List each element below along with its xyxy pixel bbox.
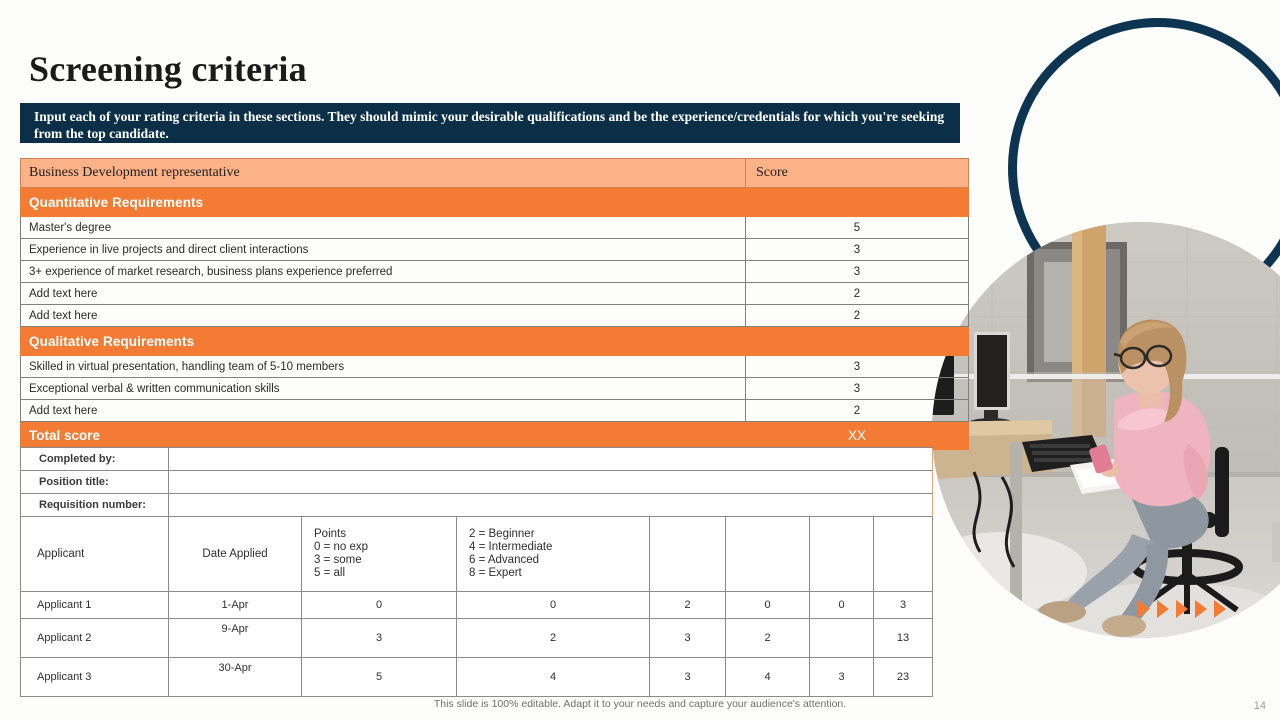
meta-value-input[interactable] [169,471,933,494]
applicant-score-5[interactable] [810,619,874,658]
applicant-name[interactable]: Applicant 3 [21,658,169,697]
col-header-extra-4 [874,517,933,592]
applicant-total[interactable]: 23 [874,658,933,697]
triangle-icon [1214,600,1226,618]
applicant-score-5[interactable]: 3 [810,658,874,697]
section-header-quantitative: Quantitative Requirements [21,188,969,217]
criteria-score[interactable]: 3 [746,261,969,283]
col-header-extra-2 [726,517,810,592]
applicant-name[interactable]: Applicant 2 [21,619,169,658]
applicant-total[interactable]: 13 [874,619,933,658]
triangle-icon [1176,600,1188,618]
section-score-blank [746,327,969,356]
criteria-row[interactable]: Add text here 2 [21,400,969,422]
applicant-total[interactable]: 3 [874,592,933,619]
criteria-label[interactable]: 3+ experience of market research, busine… [21,261,746,283]
criteria-table-body: Business Development representative Scor… [21,159,969,450]
col-header-applicant: Applicant [21,517,169,592]
page-title: Screening criteria [29,48,307,90]
criteria-score[interactable]: 2 [746,400,969,422]
applicant-score-4[interactable]: 0 [726,592,810,619]
applicant-level[interactable]: 0 [457,592,650,619]
applicant-table-body: Completed by: Position title: Requisitio… [21,448,933,697]
applicant-score-3[interactable]: 3 [650,619,726,658]
criteria-label[interactable]: Add text here [21,400,746,422]
criteria-row[interactable]: Master's degree 5 [21,217,969,239]
meta-value-input[interactable] [169,448,933,471]
meta-value-input[interactable] [169,494,933,517]
instruction-banner-text: Input each of your rating criteria in th… [34,108,946,142]
col-header-level-legend: 2 = Beginner 4 = Intermediate 6 = Advanc… [457,517,650,592]
applicant-level[interactable]: 2 [457,619,650,658]
applicant-column-header-row: Applicant Date Applied Points 0 = no exp… [21,517,933,592]
applicant-level[interactable]: 4 [457,658,650,697]
criteria-label[interactable]: Skilled in virtual presentation, handlin… [21,356,746,378]
criteria-row[interactable]: Add text here 2 [21,283,969,305]
criteria-row[interactable]: Skilled in virtual presentation, handlin… [21,356,969,378]
criteria-label[interactable]: Add text here [21,283,746,305]
section-header-qualitative: Qualitative Requirements [21,327,969,356]
criteria-score[interactable]: 2 [746,283,969,305]
screening-criteria-table: Business Development representative Scor… [20,158,969,450]
applicant-row[interactable]: Applicant 1 1-Apr 0 0 2 0 0 3 [21,592,933,619]
criteria-label[interactable]: Exceptional verbal & written communicati… [21,378,746,400]
applicant-scoring-table: Completed by: Position title: Requisitio… [20,447,933,697]
criteria-header-row: Business Development representative Scor… [21,159,969,188]
office-photo-illustration [932,222,1280,638]
triangle-icon [1157,600,1169,618]
criteria-score[interactable]: 5 [746,217,969,239]
criteria-score[interactable]: 3 [746,378,969,400]
col-header-points-legend: Points 0 = no exp 3 = some 5 = all [302,517,457,592]
col-header-extra-3 [810,517,874,592]
arrow-accent-group [1138,600,1238,620]
applicant-score-5[interactable]: 0 [810,592,874,619]
applicant-points[interactable]: 5 [302,658,457,697]
applicant-score-4[interactable]: 2 [726,619,810,658]
applicant-name[interactable]: Applicant 1 [21,592,169,619]
criteria-label[interactable]: Add text here [21,305,746,327]
page-number: 14 [1254,700,1266,712]
meta-label: Requisition number: [21,494,169,517]
applicant-row[interactable]: Applicant 2 9-Apr 3 2 3 2 13 [21,619,933,658]
meta-label: Position title: [21,471,169,494]
meta-label: Completed by: [21,448,169,471]
meta-row-requisition-number: Requisition number: [21,494,933,517]
criteria-row[interactable]: Experience in live projects and direct c… [21,239,969,261]
score-header-cell: Score [746,159,969,188]
editable-footer-note: This slide is 100% editable. Adapt it to… [0,698,1280,710]
instruction-banner: Input each of your rating criteria in th… [20,103,960,143]
section-title: Quantitative Requirements [21,188,746,217]
applicant-date[interactable]: 30-Apr [169,658,302,697]
applicant-score-3[interactable]: 2 [650,592,726,619]
total-score-label: Total score [21,422,746,450]
meta-row-completed-by: Completed by: [21,448,933,471]
criteria-row[interactable]: 3+ experience of market research, busine… [21,261,969,283]
criteria-label[interactable]: Experience in live projects and direct c… [21,239,746,261]
triangle-icon [1195,600,1207,618]
role-header-cell: Business Development representative [21,159,746,188]
applicant-row[interactable]: Applicant 3 30-Apr 5 4 3 4 3 23 [21,658,933,697]
applicant-points[interactable]: 0 [302,592,457,619]
section-score-blank [746,188,969,217]
criteria-score[interactable]: 3 [746,356,969,378]
section-title: Qualitative Requirements [21,327,746,356]
applicant-date[interactable]: 1-Apr [169,592,302,619]
triangle-icon [1138,600,1150,618]
col-header-extra-1 [650,517,726,592]
meta-row-position-title: Position title: [21,471,933,494]
total-score-row: Total score XX [21,422,969,450]
applicant-score-4[interactable]: 4 [726,658,810,697]
criteria-label[interactable]: Master's degree [21,217,746,239]
total-score-value[interactable]: XX [746,422,969,450]
criteria-score[interactable]: 3 [746,239,969,261]
office-photo [932,222,1280,638]
applicant-score-3[interactable]: 3 [650,658,726,697]
applicant-date[interactable]: 9-Apr [169,619,302,658]
criteria-row[interactable]: Add text here 2 [21,305,969,327]
col-header-date-applied: Date Applied [169,517,302,592]
criteria-score[interactable]: 2 [746,305,969,327]
criteria-row[interactable]: Exceptional verbal & written communicati… [21,378,969,400]
applicant-points[interactable]: 3 [302,619,457,658]
